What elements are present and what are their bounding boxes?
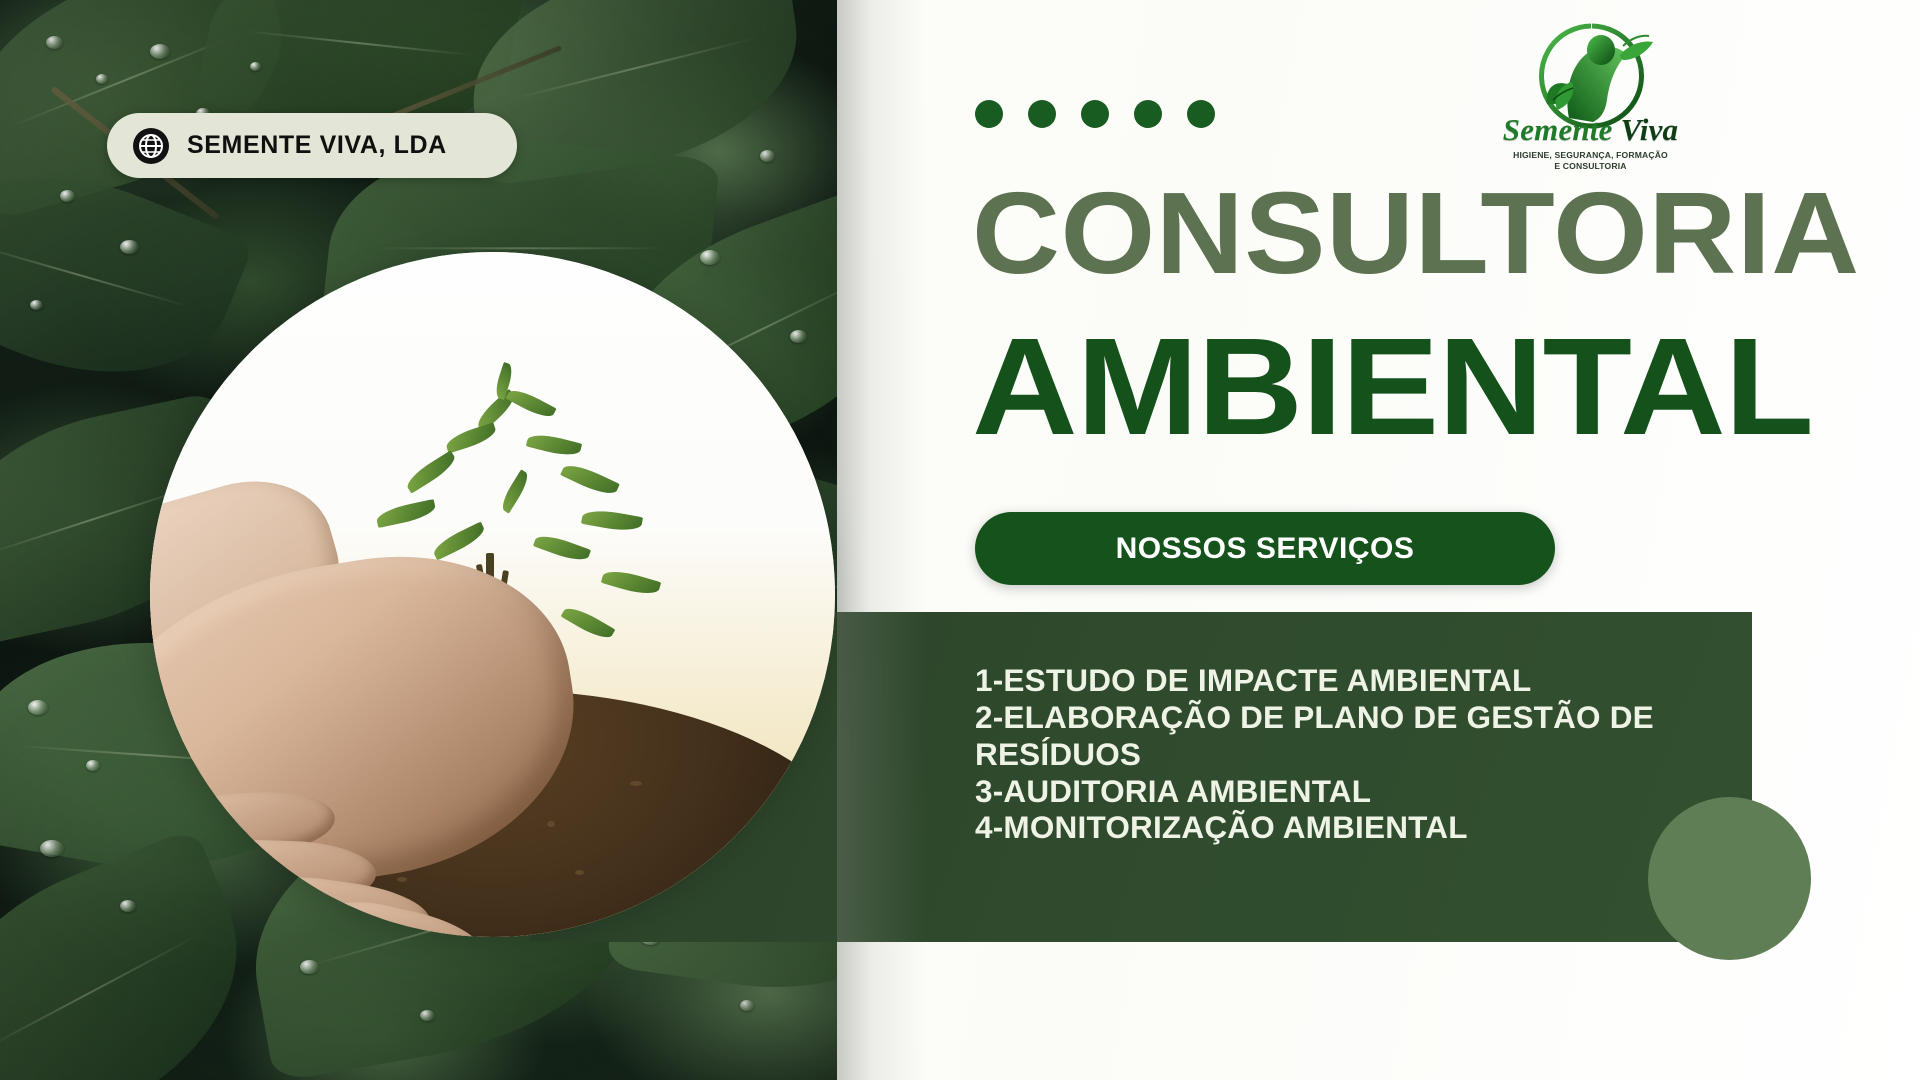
service-item: 4-MONITORIZAÇÃO AMBIENTAL — [975, 809, 1695, 846]
logo-word-viva: Viva — [1621, 112, 1679, 147]
logo-wordmark: Semente Viva — [1483, 114, 1698, 145]
company-badge[interactable]: SEMENTE VIVA, LDA — [107, 113, 517, 178]
dot — [1134, 100, 1162, 128]
inset-photo-hand-tree — [150, 252, 835, 937]
logo-subtitle-line-1: HIGIENE, SEGURANÇA, FORMAÇÃO — [1483, 150, 1698, 161]
service-item: 1-ESTUDO DE IMPACTE AMBIENTAL — [975, 662, 1695, 699]
company-name-label: SEMENTE VIVA, LDA — [187, 131, 447, 160]
service-item: 3-AUDITORIA AMBIENTAL — [975, 773, 1695, 810]
nossos-servicos-button[interactable]: NOSSOS SERVIÇOS — [975, 512, 1555, 585]
logo-word-semente: Semente — [1503, 112, 1613, 147]
services-list: 1-ESTUDO DE IMPACTE AMBIENTAL 2-ELABORAÇ… — [975, 662, 1695, 846]
dot — [1028, 100, 1056, 128]
soil-speck — [397, 877, 407, 882]
headline-line-2: AMBIENTAL — [972, 318, 1813, 456]
decorative-dots — [975, 100, 1215, 128]
dot — [1187, 100, 1215, 128]
service-item: 2-ELABORAÇÃO DE PLANO DE GESTÃO DE RESÍD… — [975, 699, 1695, 773]
globe-icon — [133, 128, 169, 164]
poster-canvas: 1-ESTUDO DE IMPACTE AMBIENTAL 2-ELABORAÇ… — [0, 0, 1920, 1080]
headline-line-1: CONSULTORIA — [972, 175, 1860, 291]
dot — [975, 100, 1003, 128]
dot — [1081, 100, 1109, 128]
brand-logo[interactable]: Semente Viva HIGIENE, SEGURANÇA, FORMAÇÃ… — [1483, 22, 1698, 172]
